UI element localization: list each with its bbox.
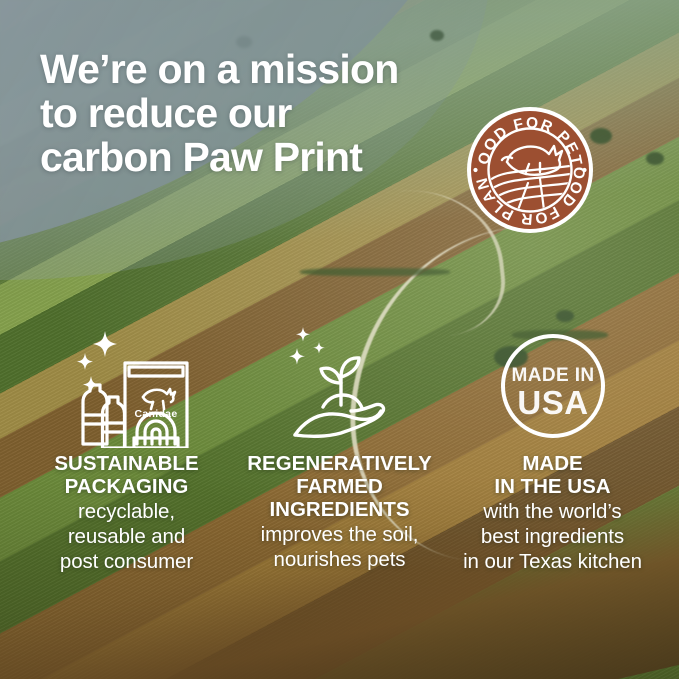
hand-holding-sprout-icon: [233, 318, 446, 453]
sprout-leaf-right: [341, 358, 359, 377]
good-for-pets-good-for-planet-seal: GOOD FOR PETS GOOD FOR PLANET: [466, 106, 594, 234]
feature-body-line: best ingredients: [446, 524, 659, 549]
seal-dot-left: [473, 168, 477, 172]
feature-body-line: recyclable,: [20, 499, 233, 524]
feature-title-line: INGREDIENTS: [233, 499, 446, 522]
feature-body: with the world’s best ingredients in our…: [446, 499, 659, 575]
canidae-dog-logo-icon: [143, 389, 175, 409]
feature-body-line: in our Texas kitchen: [446, 549, 659, 574]
feature-body-line: reusable and: [20, 524, 233, 549]
feature-regeneratively-farmed-ingredients: REGENERATIVELY FARMED INGREDIENTS improv…: [233, 318, 446, 572]
feature-title: SUSTAINABLE PACKAGING: [20, 453, 233, 499]
seal-dot-right: [582, 168, 586, 172]
feature-sustainable-packaging: Canidae SUSTAINABLE PACKAGING recyclable…: [20, 318, 233, 575]
sparkle-icons: [289, 327, 325, 365]
sustainability-banner: We’re on a mission to reduce our carbon …: [0, 0, 679, 679]
page-title: We’re on a mission to reduce our carbon …: [40, 48, 480, 180]
badge-line-1: MADE IN: [511, 365, 594, 386]
feature-title-line: MADE: [446, 453, 659, 476]
feature-body-line: improves the soil,: [233, 522, 446, 547]
feature-title-line: PACKAGING: [20, 476, 233, 499]
feature-body-line: nourishes pets: [233, 547, 446, 572]
feature-title-line: FARMED: [233, 476, 446, 499]
feature-title-line: SUSTAINABLE: [20, 453, 233, 476]
badge-line-2: USA: [517, 384, 588, 421]
recyclable-bottles-and-pet-food-bag-icon: Canidae: [20, 318, 233, 453]
bag-brand-label: Canidae: [134, 408, 177, 420]
hand-fingers: [295, 414, 369, 435]
feature-title-line: REGENERATIVELY: [233, 453, 446, 476]
feature-title: REGENERATIVELY FARMED INGREDIENTS: [233, 453, 446, 522]
feature-body-line: post consumer: [20, 549, 233, 574]
pet-food-bag-icon: [125, 363, 187, 448]
feature-body: recyclable, reusable and post consumer: [20, 499, 233, 575]
feature-body-line: with the world’s: [446, 499, 659, 524]
headline-line-3: carbon Paw Print: [40, 136, 480, 180]
headline-line-2: to reduce our: [40, 92, 480, 136]
feature-columns: Canidae SUSTAINABLE PACKAGING recyclable…: [0, 318, 679, 575]
feature-made-in-the-usa: MADE IN USA MADE IN USA MADE IN THE: [446, 318, 659, 575]
feature-body: improves the soil, nourishes pets: [233, 522, 446, 572]
made-in-usa-badge-icon: MADE IN USA MADE IN USA: [446, 318, 659, 453]
feature-title: MADE IN THE USA: [446, 453, 659, 499]
headline-line-1: We’re on a mission: [40, 48, 480, 92]
feature-title-line: IN THE USA: [446, 476, 659, 499]
sprout-leaf-left: [321, 368, 341, 383]
